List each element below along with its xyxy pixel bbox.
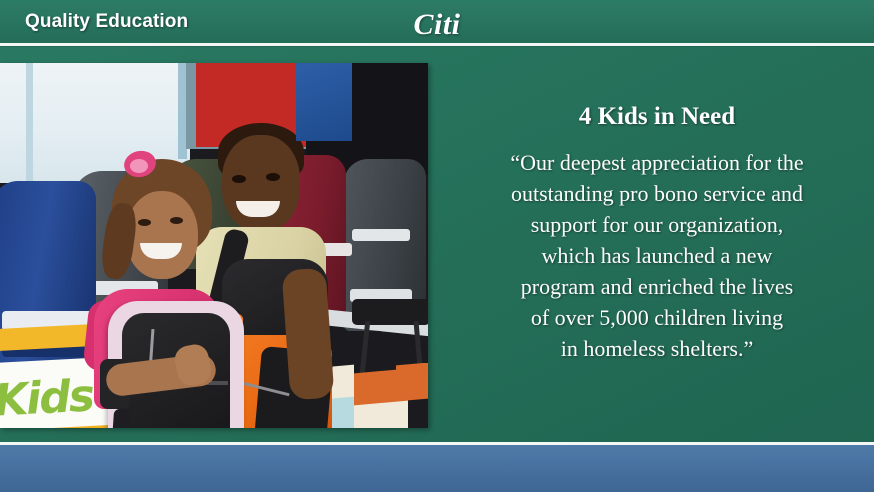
quote-panel: 4 Kids in Need “Our deepest appreciation… (440, 63, 874, 428)
quote-line: in homeless shelters.” (450, 333, 864, 364)
photo-children-with-backpacks: ★ ★ Ki (0, 63, 428, 428)
photo-window-frame (26, 63, 33, 181)
photo-boy-eye-left (232, 175, 246, 183)
photo-content: ★ ★ Ki (0, 63, 428, 428)
photo-floor-tile (354, 401, 408, 428)
quote-line: which has launched a new (450, 240, 864, 271)
photo-boy-arm (282, 268, 335, 401)
photo-boy-eye-right (266, 173, 280, 181)
photo-girl-eye-right (170, 217, 183, 224)
quote-line: “Our deepest appreciation for the (450, 147, 864, 178)
quote-line: outstanding pro bono service and (450, 178, 864, 209)
quote-title: 4 Kids in Need (440, 103, 874, 131)
photo-girl-head (126, 191, 198, 279)
slide-root: Quality Education ★ ★ (0, 0, 874, 492)
photo-girl-hair-bow-highlight (130, 159, 148, 173)
quote-line: of over 5,000 children living (450, 302, 864, 333)
quote-line: program and enriched the lives (450, 271, 864, 302)
footer-bar (0, 445, 874, 492)
header-divider-shadow (0, 46, 874, 47)
photo-backpack-gray-right-strip (352, 229, 410, 241)
sponsor-logo-citi: Citi (0, 8, 874, 42)
photo-floor-tile (396, 363, 428, 401)
photo-kids-wall-text: Kids (0, 370, 94, 426)
quote-line: support for our organization, (450, 209, 864, 240)
quote-text: “Our deepest appreciation for the outsta… (450, 147, 864, 364)
photo-girl-eye-left (138, 219, 151, 226)
photo-blue-board (296, 63, 352, 141)
